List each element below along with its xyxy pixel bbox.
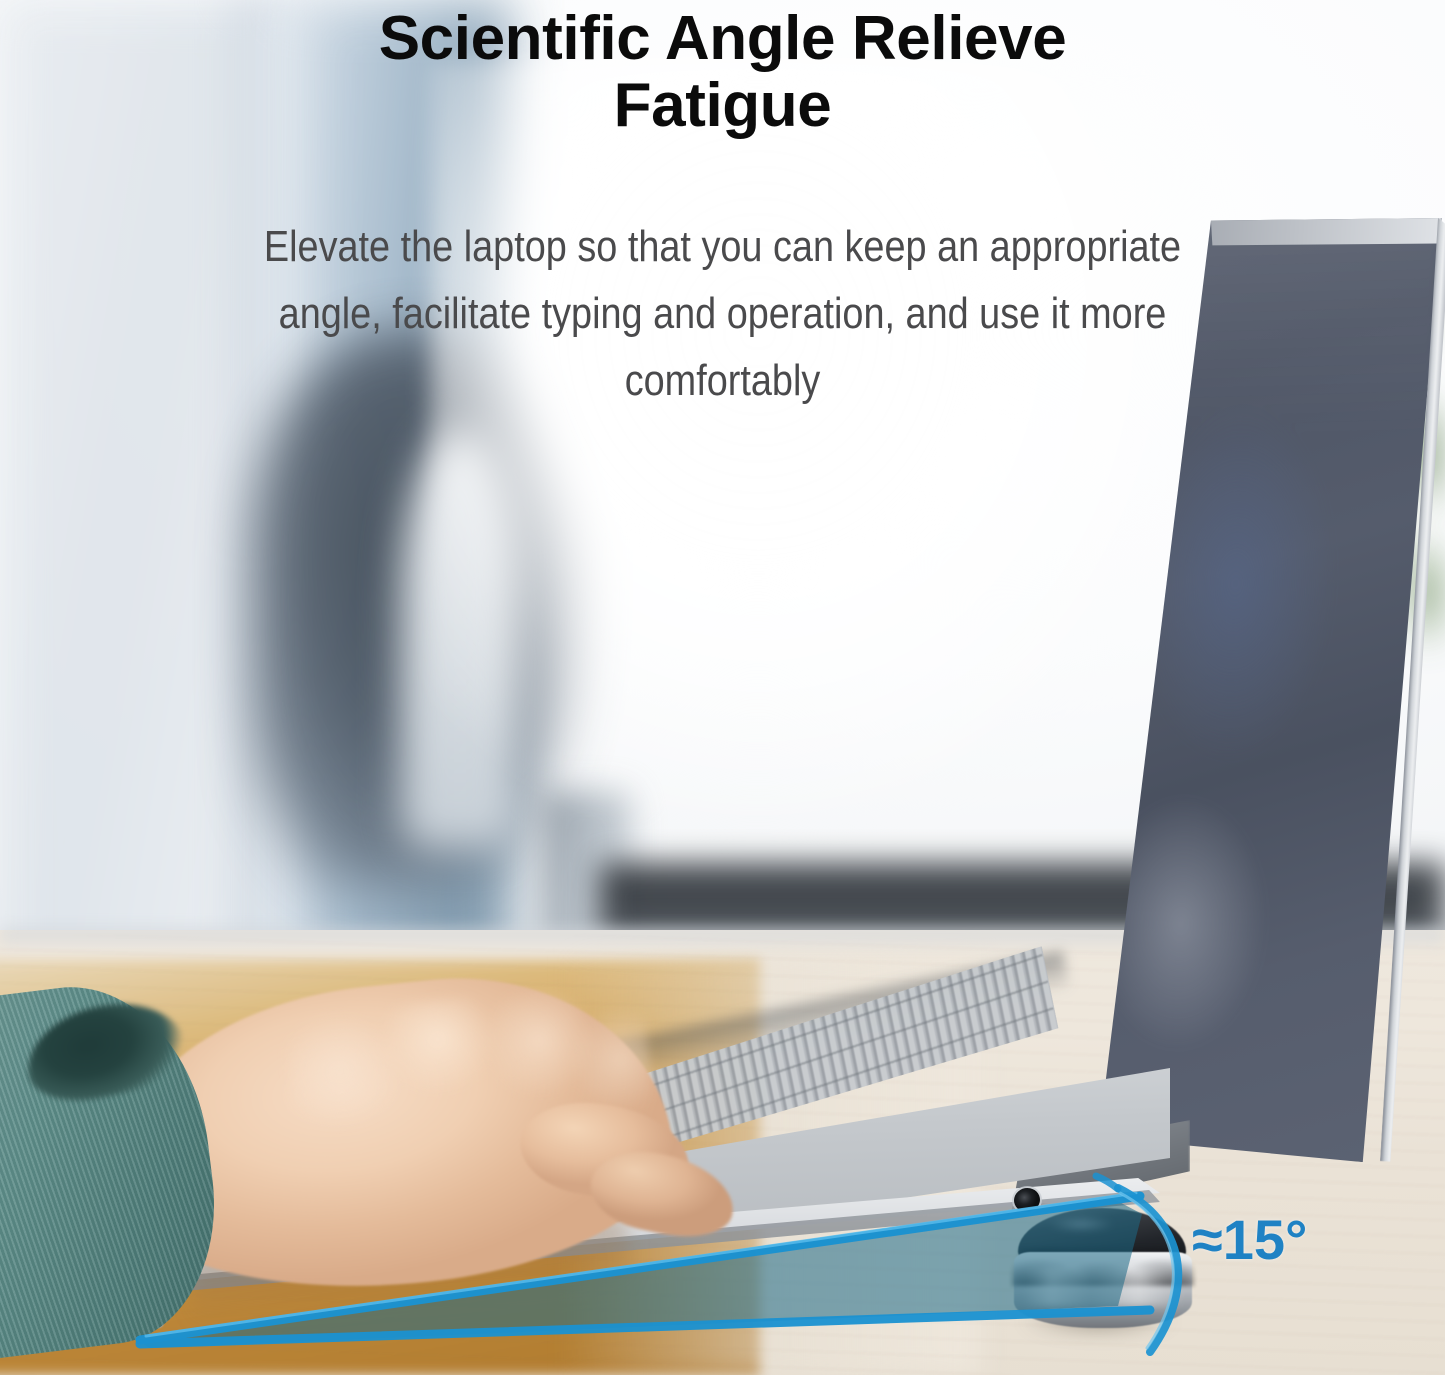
angle-arc-tick-top: [1096, 1176, 1118, 1189]
angle-overlay-graphic: [0, 0, 1445, 1375]
product-feature-image: Scientific Angle Relieve Fatigue Elevate…: [0, 0, 1445, 1375]
angle-annotation-label: ≈15°: [1192, 1212, 1307, 1268]
